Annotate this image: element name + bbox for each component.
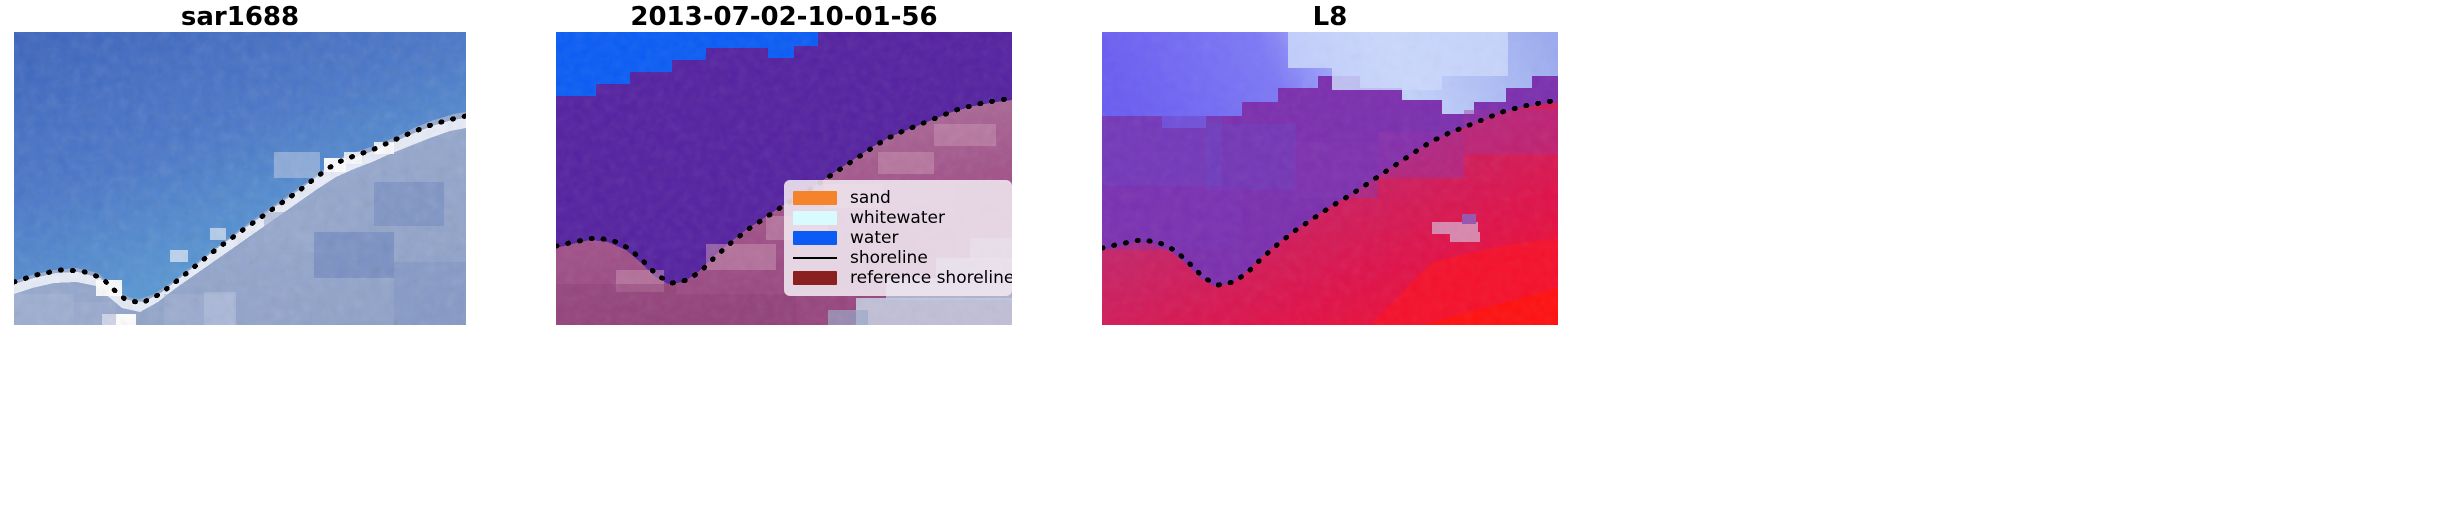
figure-canvas: sar1688 [0,0,2460,529]
panel-l8: L8 [1102,0,1558,529]
panel-classified-title: 2013-07-02-10-01-56 [556,2,1012,32]
panel-classified-image[interactable]: sand whitewater water shoreline referenc… [556,32,1012,325]
legend-label-whitewater: whitewater [850,208,945,228]
l8-raster [1102,32,1558,325]
legend-swatch-whitewater [793,211,837,225]
legend-label-shoreline: shoreline [850,248,928,268]
panel-l8-image[interactable] [1102,32,1558,325]
legend-label-water: water [850,228,898,248]
panel-classified: 2013-07-02-10-01-56 [556,0,1012,529]
legend-item-water[interactable]: water [793,228,1002,248]
legend-box: sand whitewater water shoreline referenc… [784,180,1012,296]
legend-label-reference-buffer: reference shoreline buffer [850,268,1012,288]
legend-item-whitewater[interactable]: whitewater [793,208,1002,228]
panel-sar1688-title: sar1688 [14,2,466,32]
panel-sar1688-image[interactable] [14,32,466,325]
sar-raster-svg [14,32,466,325]
legend-swatch-shoreline [793,257,837,259]
legend-swatch-reference-buffer [793,271,837,285]
legend-swatch-sand [793,191,837,205]
l8-raster-svg [1102,32,1558,325]
legend-item-reference-buffer[interactable]: reference shoreline buffer [793,268,1002,288]
legend-item-shoreline[interactable]: shoreline [793,248,1002,268]
legend-label-sand: sand [850,188,891,208]
panel-sar1688: sar1688 [14,0,466,529]
legend-swatch-water [793,231,837,245]
sar-raster [14,32,466,325]
panel-l8-title: L8 [1102,2,1558,32]
legend-item-sand[interactable]: sand [793,188,1002,208]
